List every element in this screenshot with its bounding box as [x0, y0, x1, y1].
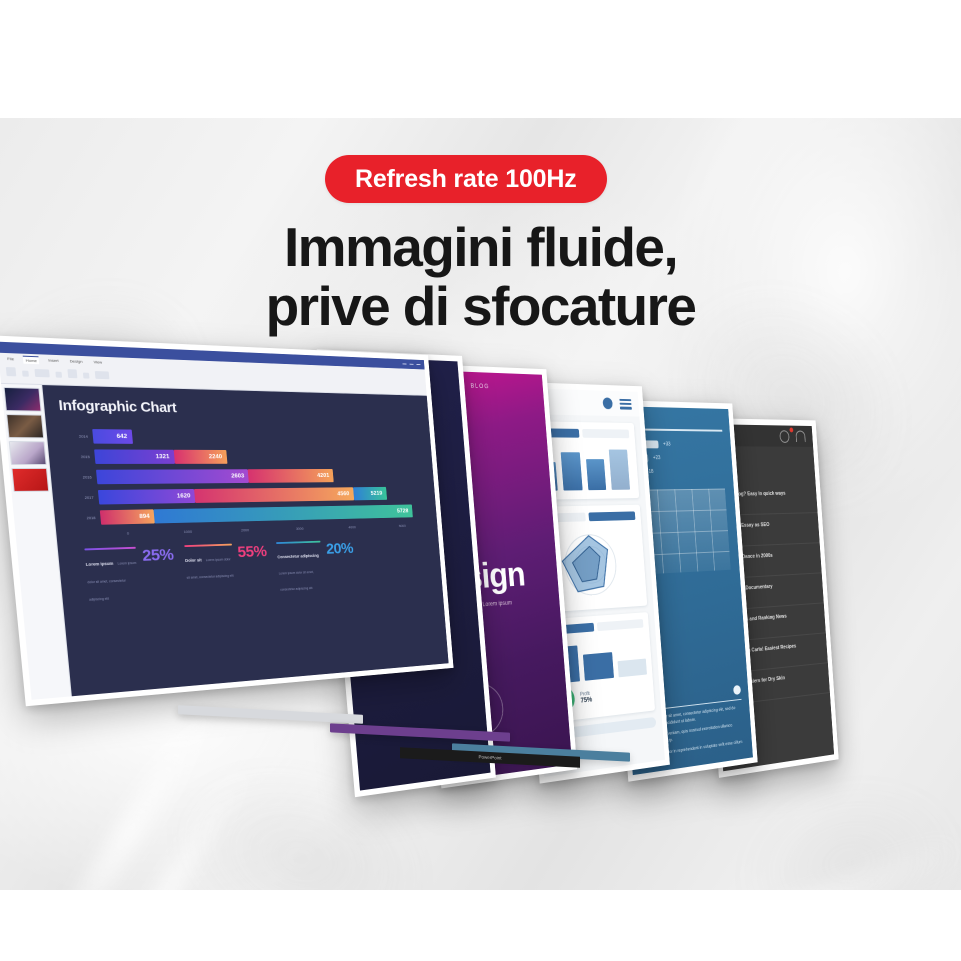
category-label: 2017 [67, 495, 99, 500]
table-row: 2016 2603 4201 [65, 468, 424, 486]
refresh-rate-badge: Refresh rate 100Hz [325, 155, 607, 203]
axis-tick: 1000 [158, 528, 217, 534]
slide-thumbnail[interactable] [3, 387, 41, 412]
minimize-icon[interactable] [402, 363, 406, 364]
notification-badge-icon [789, 428, 793, 433]
table-row: 2017 1620 4560 5219 [67, 486, 425, 506]
bar-segment: 2240 [174, 450, 228, 464]
infographic-bar-chart: 2014 642 2015 1321 2240 [61, 428, 432, 606]
slide-title: Infographic Chart [58, 397, 418, 420]
tab-design[interactable]: Design [67, 357, 84, 365]
legend-swatch [276, 541, 320, 544]
dot-icon [733, 685, 741, 695]
table-row: 2015 1321 2240 [63, 448, 422, 465]
category-label: 2018 [69, 515, 101, 521]
legend-desc: Lorem ipsum dolor sit amet, consectetur … [87, 561, 136, 602]
axis-tick: 0 [97, 530, 159, 536]
legend-desc: Lorem ipsum dolor sit amet, consectetur … [279, 570, 314, 591]
bar [609, 449, 630, 490]
axis-tick: 4000 [326, 524, 378, 530]
bar [618, 659, 647, 678]
chart-legend: Lorem ipsum Lorem ipsum dolor sit amet, … [72, 537, 432, 606]
bar-segment: 1620 [98, 489, 196, 505]
headline-line-1: Immagini fluide, [284, 216, 677, 278]
category-label: 2014 [61, 434, 93, 439]
axis-tick: 3000 [273, 526, 327, 532]
slide-thumbnail[interactable] [9, 441, 47, 465]
axis-tick: 2000 [217, 527, 273, 533]
profit-value: 75% [580, 696, 592, 704]
category-label: 2015 [63, 454, 95, 459]
legend-swatch [184, 544, 232, 547]
page-title: Immagini fluide, prive di sfocature [0, 218, 961, 336]
nav-item-blog[interactable]: BLOG [470, 384, 489, 390]
tab-insert[interactable]: Insert [46, 357, 61, 365]
axis-tick: 5000 [377, 523, 426, 529]
bar-segment: 4560 [194, 487, 353, 503]
avatar[interactable] [602, 397, 612, 409]
bar-segment: 1321 [94, 449, 175, 464]
slide-thumbnail[interactable] [11, 468, 49, 492]
profit-label: Profit 75% [580, 690, 592, 704]
powerpoint-window[interactable]: File Home Insert Design View [0, 335, 454, 706]
tab-month[interactable] [582, 429, 629, 438]
legend-title: Consectetur adipiscing [277, 553, 319, 559]
headline-line-2: prive di sfocature [0, 277, 961, 336]
paste-tool-icon[interactable] [6, 367, 16, 376]
bell-icon[interactable] [795, 430, 805, 442]
legend-swatch [84, 547, 136, 551]
tab-month[interactable] [588, 511, 635, 521]
bold-tool-icon[interactable] [55, 372, 62, 378]
legend-percent: 55% [237, 543, 267, 562]
shapes-tool-icon[interactable] [67, 369, 77, 378]
table-row: 2014 642 [61, 428, 420, 447]
bar-segment: 5728 [154, 505, 413, 524]
maximize-icon[interactable] [410, 364, 414, 365]
legend-percent: 25% [141, 546, 174, 566]
styles-tool-icon[interactable] [95, 371, 110, 379]
font-tool-icon[interactable] [34, 369, 49, 377]
tab-home[interactable]: Home [23, 356, 39, 365]
close-icon[interactable] [416, 364, 420, 365]
bar-segment: 2603 [96, 469, 249, 484]
tab-month[interactable] [597, 619, 644, 631]
top-white-band [0, 0, 961, 118]
legend-percent: 20% [325, 540, 353, 558]
legend-entry: Lorem ipsum Lorem ipsum dolor sit amet, … [84, 546, 177, 606]
stat-delta: +23 [653, 455, 661, 461]
legend-entry: Consectetur adipiscing Lorem ipsum dolor… [276, 540, 357, 595]
arrange-tool-icon[interactable] [83, 373, 90, 379]
table-row: 2018 894 5728 [68, 503, 426, 526]
tab-view[interactable]: View [91, 358, 104, 366]
hamburger-menu-icon[interactable] [619, 398, 632, 409]
bottom-white-band [0, 890, 961, 961]
cut-tool-icon[interactable] [22, 371, 29, 377]
legend-entry: Dolor sit Lorem ipsum dolor sit amet, co… [184, 543, 269, 584]
category-label: 2016 [65, 475, 97, 480]
bar-segment: 894 [100, 509, 155, 524]
slide-thumbnail[interactable] [6, 414, 44, 438]
bar [583, 652, 614, 681]
message-icon[interactable] [779, 430, 789, 443]
bar [560, 453, 582, 491]
slide-canvas[interactable]: Infographic Chart 2014 642 [42, 385, 448, 696]
bar-segment: 642 [92, 429, 133, 444]
bar [586, 459, 607, 490]
bar-segment: 5219 [353, 487, 387, 500]
legend-title: Dolor sit [185, 558, 202, 563]
legend-title: Lorem ipsum [86, 561, 114, 567]
tab-file[interactable]: File [5, 355, 17, 363]
bar-segment: 4201 [248, 469, 334, 483]
promo-banner: Refresh rate 100Hz Immagini fluide, priv… [0, 0, 961, 961]
stat-delta: +33 [663, 441, 671, 447]
